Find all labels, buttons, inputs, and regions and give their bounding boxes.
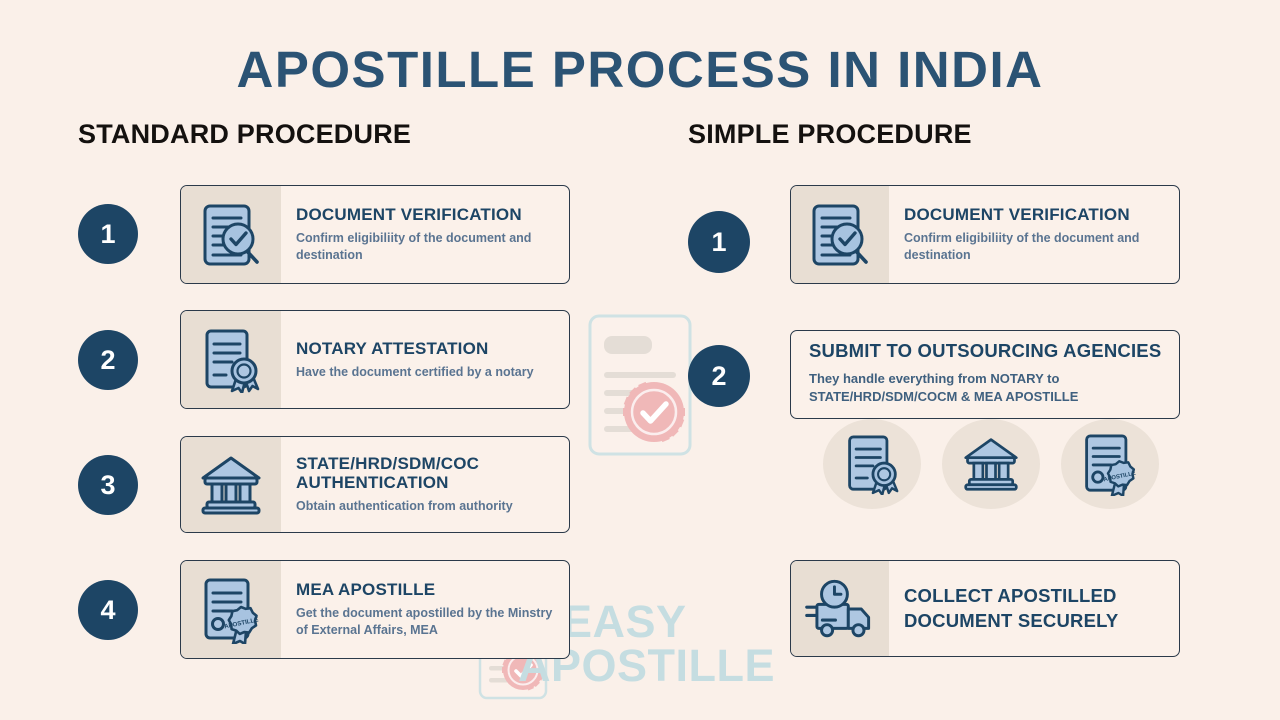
- certificate-ribbon-icon: [201, 327, 261, 393]
- delivery-truck-clock-icon: [804, 579, 876, 639]
- card-subtitle: Confirm eligibiliity of the document and…: [904, 230, 1169, 264]
- card-title: MEA APOSTILLE: [296, 580, 559, 599]
- infographic-canvas: EASY APOSTILLE APOSTILLE PROCESS IN INDI…: [0, 0, 1280, 720]
- card-standard-2[interactable]: NOTARY ATTESTATION Have the document cer…: [180, 310, 570, 409]
- card-body: SUBMIT TO OUTSOURCING AGENCIES They hand…: [791, 331, 1179, 418]
- government-building-icon: [199, 454, 263, 516]
- card-title: COLLECT APOSTILLED DOCUMENT SECURELY: [904, 584, 1169, 634]
- card-title: STATE/HRD/SDM/COC AUTHENTICATION: [296, 454, 559, 492]
- document-check-icon: [809, 202, 871, 268]
- card-simple-3[interactable]: COLLECT APOSTILLED DOCUMENT SECURELY: [790, 560, 1180, 657]
- card-subtitle: Confirm eligibiliity of the document and…: [296, 230, 559, 264]
- agency-icon-circle-apostille: APOSTILLE: [1061, 419, 1159, 509]
- card-simple-2[interactable]: SUBMIT TO OUTSOURCING AGENCIES They hand…: [790, 330, 1180, 419]
- icon-panel: [181, 437, 281, 532]
- apostille-seal-document-icon: APOSTILLE: [1081, 432, 1139, 496]
- apostille-seal-document-icon: APOSTILLE: [200, 576, 262, 644]
- card-body: DOCUMENT VERIFICATION Confirm eligibilii…: [281, 186, 569, 283]
- card-title: DOCUMENT VERIFICATION: [904, 205, 1169, 224]
- card-title: SUBMIT TO OUTSOURCING AGENCIES: [809, 341, 1163, 362]
- watermark-document-large: [588, 314, 692, 456]
- icon-panel: [181, 186, 281, 283]
- step-number-standard-1: 1: [78, 204, 138, 264]
- agency-icon-circle-notary: [823, 419, 921, 509]
- icon-panel: [181, 311, 281, 408]
- card-body: MEA APOSTILLE Get the document apostille…: [281, 561, 569, 658]
- card-standard-4[interactable]: APOSTILLE MEA APOSTILLE Get the document…: [180, 560, 570, 659]
- card-title: NOTARY ATTESTATION: [296, 339, 559, 358]
- icon-panel: APOSTILLE: [181, 561, 281, 658]
- document-check-icon: [200, 202, 262, 268]
- icon-panel: [791, 561, 889, 656]
- card-title: DOCUMENT VERIFICATION: [296, 205, 559, 224]
- card-standard-1[interactable]: DOCUMENT VERIFICATION Confirm eligibilii…: [180, 185, 570, 284]
- card-subtitle: Obtain authentication from authority: [296, 498, 559, 515]
- step-number-standard-3: 3: [78, 455, 138, 515]
- step-number-standard-4: 4: [78, 580, 138, 640]
- section-heading-standard: STANDARD PROCEDURE: [78, 121, 411, 148]
- card-subtitle: They handle everything from NOTARY to ST…: [809, 370, 1163, 406]
- card-body: STATE/HRD/SDM/COC AUTHENTICATION Obtain …: [281, 437, 569, 532]
- step-number-simple-1: 1: [688, 211, 750, 273]
- government-building-icon: [962, 436, 1020, 492]
- card-body: COLLECT APOSTILLED DOCUMENT SECURELY: [889, 561, 1179, 656]
- card-standard-3[interactable]: STATE/HRD/SDM/COC AUTHENTICATION Obtain …: [180, 436, 570, 533]
- card-body: NOTARY ATTESTATION Have the document cer…: [281, 311, 569, 408]
- page-title: APOSTILLE PROCESS IN INDIA: [0, 44, 1280, 95]
- section-heading-simple: SIMPLE PROCEDURE: [688, 121, 972, 148]
- step-number-simple-2: 2: [688, 345, 750, 407]
- card-simple-1[interactable]: DOCUMENT VERIFICATION Confirm eligibilii…: [790, 185, 1180, 284]
- card-body: DOCUMENT VERIFICATION Confirm eligibilii…: [889, 186, 1179, 283]
- agency-icon-circle-state: [942, 419, 1040, 509]
- step-number-standard-2: 2: [78, 330, 138, 390]
- icon-panel: [791, 186, 889, 283]
- card-subtitle: Get the document apostilled by the Minst…: [296, 605, 559, 639]
- card-subtitle: Have the document certified by a notary: [296, 364, 559, 381]
- certificate-ribbon-icon: [844, 433, 900, 495]
